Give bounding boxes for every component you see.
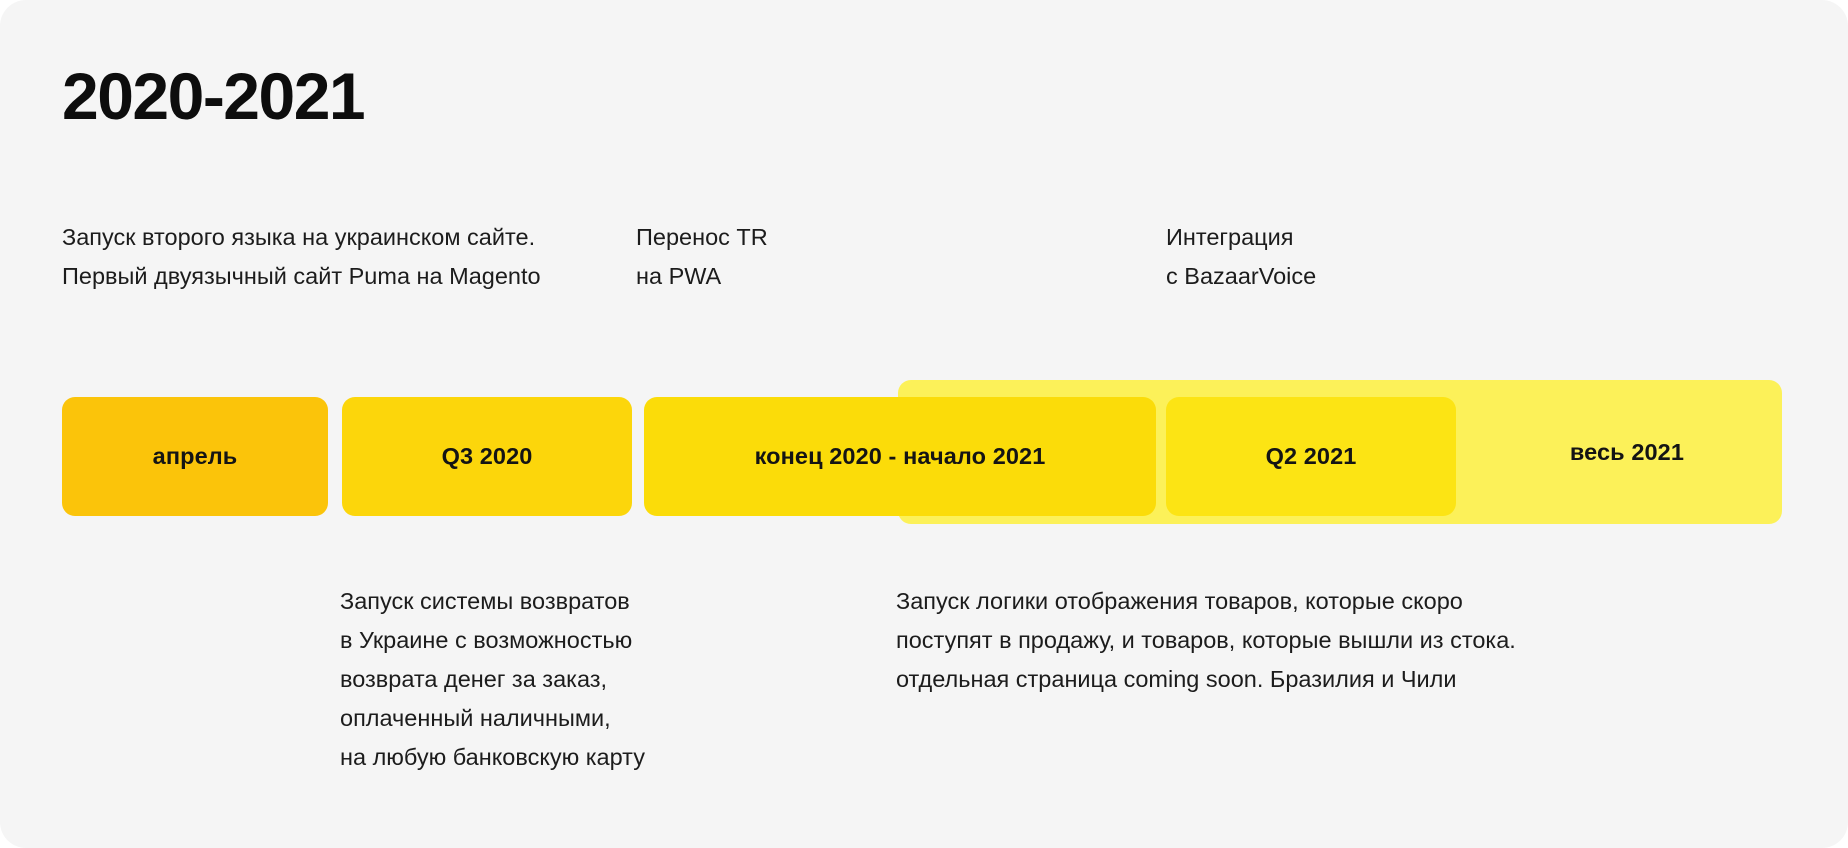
top-note-bazaarvoice: Интеграция с BazaarVoice bbox=[1166, 218, 1586, 296]
page-title: 2020-2021 bbox=[62, 60, 364, 133]
bottom-note-coming-soon-logic: Запуск логики отображения товаров, котор… bbox=[896, 582, 1636, 699]
timeline-bar-konec-2020-nachalo-2021: конец 2020 - начало 2021 bbox=[644, 397, 1156, 516]
top-note-tr-pwa: Перенос TR на PWA bbox=[636, 218, 966, 296]
timeline-bar-q2-2021: Q2 2021 bbox=[1166, 397, 1456, 516]
bottom-note-returns-system: Запуск системы возвратов в Украине с воз… bbox=[340, 582, 780, 777]
timeline-bar-row: весь 2021 апрель Q3 2020 конец 2020 - на… bbox=[0, 380, 1848, 530]
timeline-slide: 2020-2021 Запуск второго языка на украин… bbox=[0, 0, 1848, 848]
top-note-launch-second-language: Запуск второго языка на украинском сайте… bbox=[62, 218, 602, 296]
timeline-bar-aprel: апрель bbox=[62, 397, 328, 516]
timeline-bar-q3-2020: Q3 2020 bbox=[342, 397, 632, 516]
